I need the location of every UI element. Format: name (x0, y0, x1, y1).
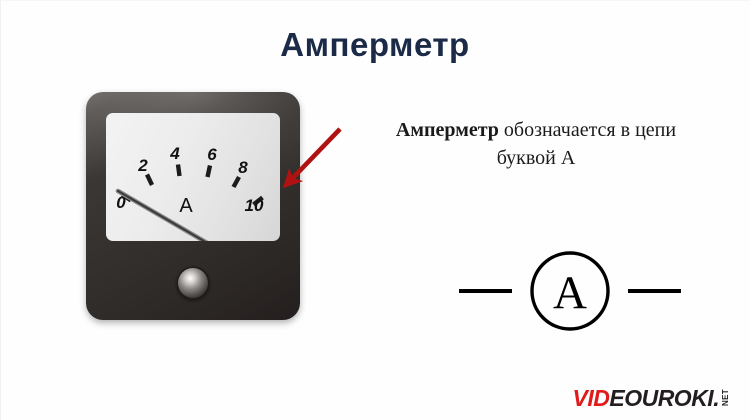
page-title: Амперметр (0, 26, 750, 64)
description-term: Амперметр (396, 119, 499, 141)
description-text: Амперметр обозначается в цепи буквой А (388, 116, 684, 173)
logo-wordmark: VIDEOUROKI. (573, 387, 720, 410)
description-line1-rest: обозначается в (499, 119, 630, 141)
scale-label-6: 6 (207, 145, 217, 164)
ammeter-dial-face: 0 2 4 6 8 10 A (106, 113, 280, 241)
scale-label-4: 4 (169, 144, 180, 163)
description-line1: Амперметр обозначается в (396, 119, 630, 141)
scale-label-8: 8 (238, 158, 248, 177)
play-triangle-icon (599, 394, 606, 402)
videouroki-logo: VIDEOUROKI. NET (573, 382, 735, 410)
logo-text-vi: VI (573, 387, 594, 410)
ammeter-unit-label: A (179, 195, 193, 217)
logo-domain-suffix: NET (721, 389, 730, 406)
ammeter-needle (118, 191, 209, 241)
logo-letter-d: D (593, 387, 609, 410)
zero-adjust-screw[interactable] (176, 266, 210, 300)
ammeter-circuit-symbol: A (455, 248, 685, 334)
logo-text-rest: EOUROKI. (609, 387, 719, 410)
circuit-symbol-letter: A (553, 267, 587, 319)
ammeter-scale-graphic: 0 2 4 6 8 10 A (106, 113, 280, 241)
slide-canvas: Амперметр 0 2 4 6 (0, 0, 750, 420)
scale-label-10: 10 (245, 196, 264, 215)
scale-label-2: 2 (137, 156, 148, 175)
analog-ammeter-device: 0 2 4 6 8 10 A (86, 92, 300, 320)
